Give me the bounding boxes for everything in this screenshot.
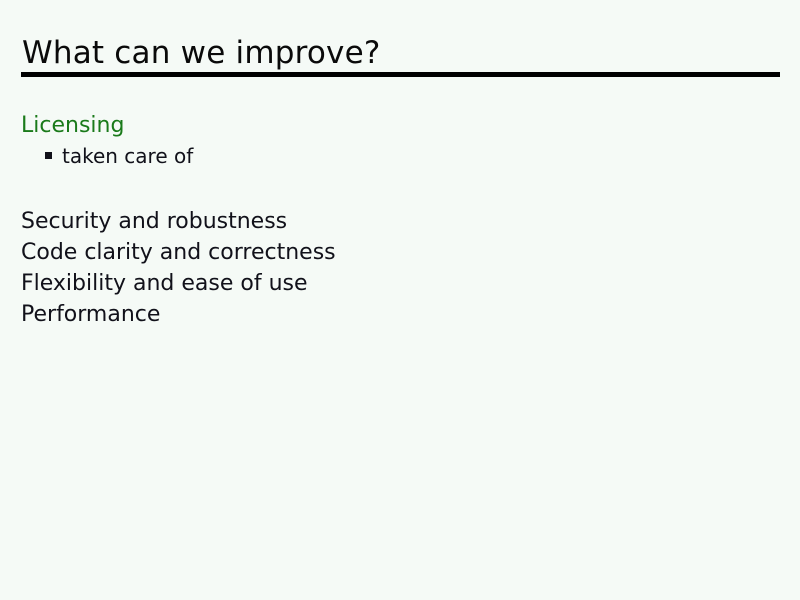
section-heading-licensing: Licensing [21, 110, 761, 141]
topic-code-clarity-and-correctness: Code clarity and correctness [21, 237, 761, 268]
topic-security-and-robustness: Security and robustness [21, 206, 761, 237]
list-item-label: taken care of [62, 141, 193, 171]
title-divider [21, 72, 780, 77]
slide-body: Licensing taken care of Security and rob… [21, 110, 761, 330]
square-bullet-icon [45, 152, 52, 159]
spacer [21, 171, 761, 206]
topics-group: Security and robustness Code clarity and… [21, 206, 761, 330]
licensing-bullet-list: taken care of [21, 141, 761, 171]
topic-flexibility-and-ease-of-use: Flexibility and ease of use [21, 268, 761, 299]
topic-performance: Performance [21, 299, 761, 330]
page-title: What can we improve? [22, 36, 381, 72]
presentation-slide: What can we improve? Licensing taken car… [0, 0, 800, 600]
list-item: taken care of [21, 141, 761, 171]
